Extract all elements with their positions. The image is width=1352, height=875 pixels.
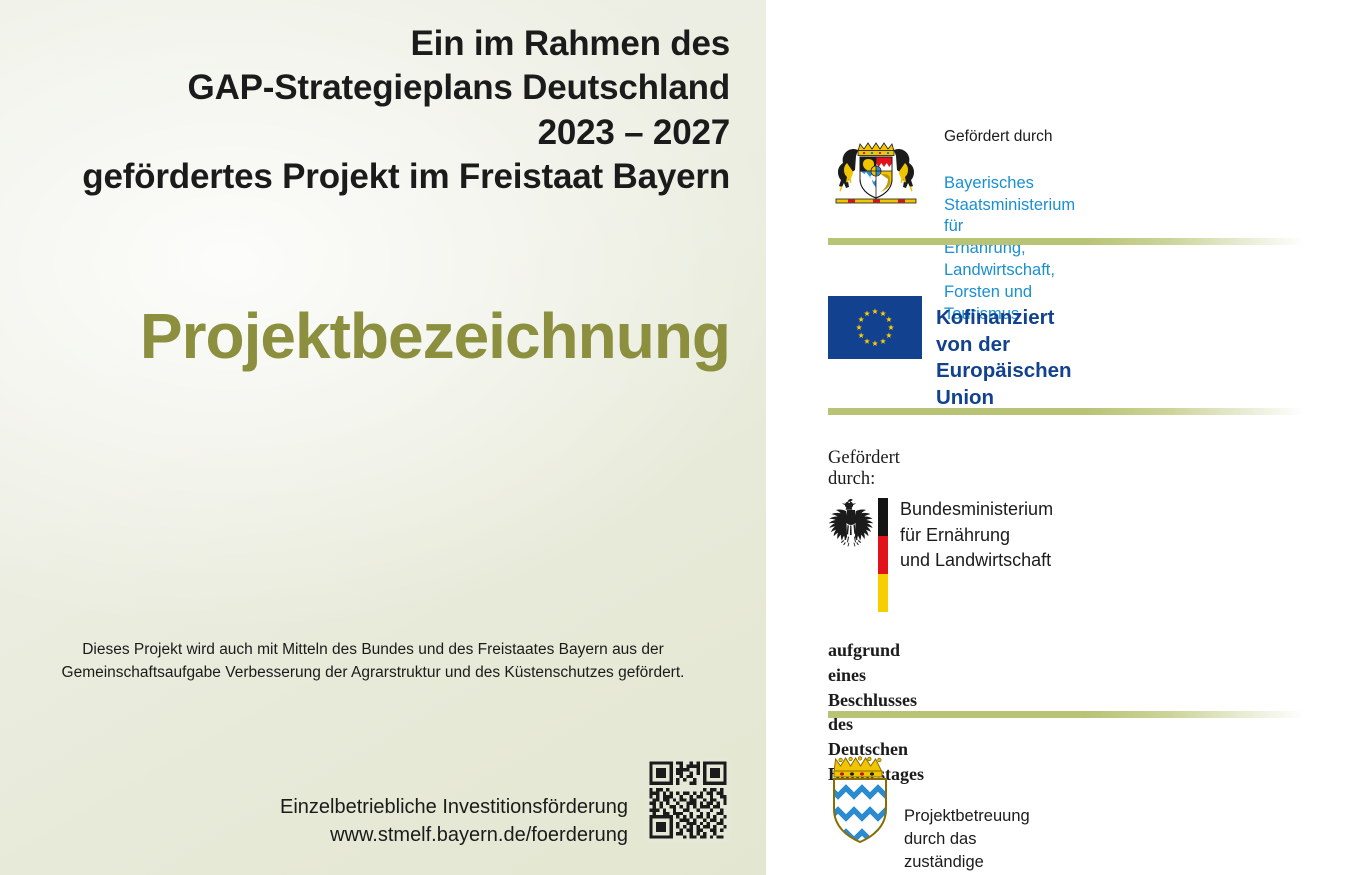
european-union-flag-icon (828, 296, 922, 359)
poster-root: Ein im Rahmen des GAP-Strategieplans Deu… (0, 0, 1352, 875)
bayern-ministry-name: Bayerisches Staatsministerium für Ernähr… (944, 173, 1075, 327)
bavarian-lozenge-shield-icon (828, 752, 892, 844)
bund-ministry-name: Bundesministerium für Ernährung und Land… (900, 497, 1053, 574)
right-panel-logos: Gefördert durch Bayerisches Staatsminist… (766, 0, 1352, 875)
german-flag-bar-icon (878, 498, 888, 612)
bayern-funded-by-label: Gefördert durch (944, 128, 1075, 147)
footer-programme-and-url: Einzelbetriebliche Investitionsförderung… (16, 793, 628, 850)
funding-note: Dieses Projekt wird auch mit Mitteln des… (16, 638, 730, 685)
bavarian-greater-coat-of-arms-icon (828, 138, 924, 206)
left-panel: Ein im Rahmen des GAP-Strategieplans Deu… (0, 0, 766, 875)
page-title: Projektbezeichnung (16, 304, 730, 368)
section-divider (828, 238, 1304, 245)
german-federal-eagle-icon (826, 496, 876, 551)
bund-funded-by-label: Gefördert durch: (828, 448, 900, 490)
section-divider (828, 711, 1304, 718)
section-divider (828, 408, 1304, 415)
eu-cofinanced-label: Kofinanziert von der Europäischen Union (936, 305, 1072, 412)
qr-code-icon (646, 758, 730, 842)
bayern-text-group: Gefördert durch Bayerisches Staatsminist… (944, 128, 1075, 326)
page-headline: Ein im Rahmen des GAP-Strategieplans Deu… (16, 22, 730, 200)
aelf-support-label: Projektbetreuung durch das zuständige Am… (904, 805, 1030, 875)
